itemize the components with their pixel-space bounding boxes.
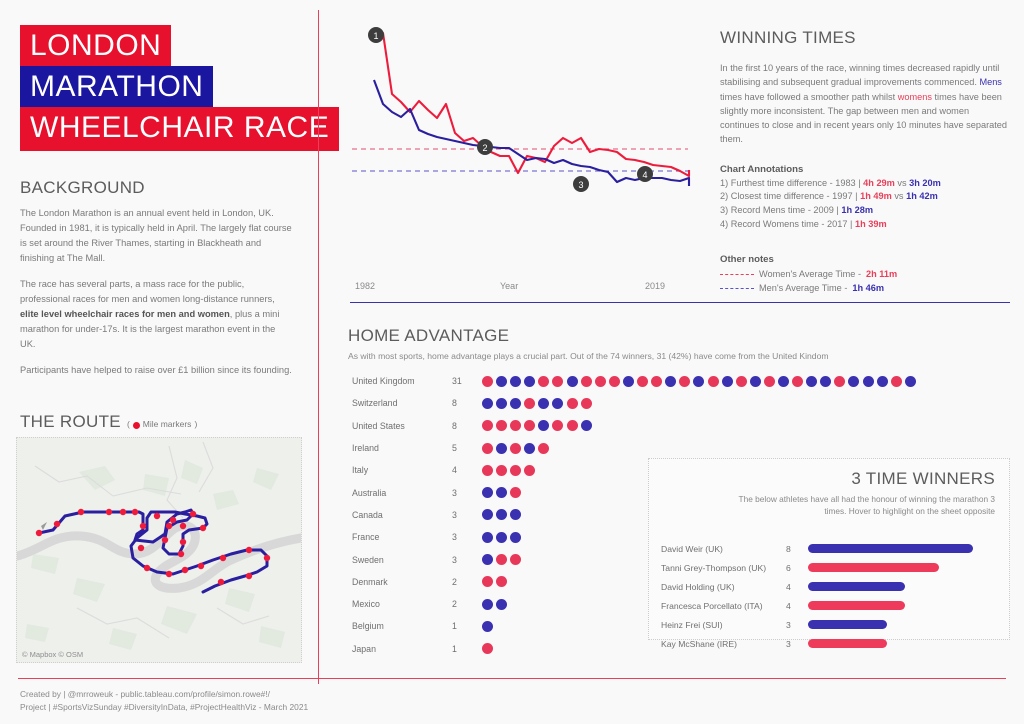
note-womens-average-value: 2h 11m <box>866 267 897 282</box>
country-name: Switzerland <box>352 398 452 408</box>
winning-times-heading: WINNING TIMES <box>720 28 1010 48</box>
country-dot-strip <box>482 465 535 476</box>
winner-dot-blue[interactable] <box>581 420 592 431</box>
country-row[interactable]: United Kingdom31 <box>352 370 952 392</box>
winner-dot-blue[interactable] <box>538 398 549 409</box>
winner-row[interactable]: Heinz Frei (SUI)3 <box>661 615 1001 634</box>
winner-dot-blue[interactable] <box>496 532 507 543</box>
winner-dot-red[interactable] <box>524 465 535 476</box>
country-name: Sweden <box>352 555 452 565</box>
winner-name: David Holding (UK) <box>661 582 786 592</box>
country-dot-strip <box>482 532 521 543</box>
route-map-svg <box>17 438 301 662</box>
winning-body-mens-word: Mens <box>979 77 1001 87</box>
three-time-winners-heading: 3 TIME WINNERS <box>851 469 995 489</box>
winner-dot-red[interactable] <box>552 376 563 387</box>
winner-bar-wrap <box>808 582 983 591</box>
winner-dot-blue[interactable] <box>623 376 634 387</box>
winner-dot-blue[interactable] <box>496 376 507 387</box>
winner-dot-red[interactable] <box>552 420 563 431</box>
winner-count: 3 <box>786 639 808 649</box>
winner-dot-blue[interactable] <box>567 376 578 387</box>
title-line-wheelchair-race: WHEELCHAIR RACE <box>20 107 339 151</box>
country-dot-strip <box>482 398 592 409</box>
winner-dot-blue[interactable] <box>482 487 493 498</box>
winner-dot-blue[interactable] <box>510 509 521 520</box>
home-advantage-panel: HOME ADVANTAGE As with most sports, home… <box>348 326 1010 361</box>
annotation-2-blue-value: 1h 42m <box>906 191 938 201</box>
winner-row[interactable]: David Weir (UK)8 <box>661 539 1001 558</box>
home-advantage-subtitle: As with most sports, home advantage play… <box>348 351 1010 361</box>
x-axis-title: Year <box>500 281 518 291</box>
winner-row[interactable]: David Holding (UK)4 <box>661 577 1001 596</box>
country-win-count: 2 <box>452 599 482 609</box>
country-win-count: 4 <box>452 465 482 475</box>
winner-dot-red[interactable] <box>482 465 493 476</box>
country-name: Mexico <box>352 599 452 609</box>
winner-bar-wrap <box>808 601 983 610</box>
note-womens-average: Women's Average Time - 2h 11m <box>720 267 1010 282</box>
winner-dot-red[interactable] <box>482 443 493 454</box>
country-name: United Kingdom <box>352 376 452 386</box>
route-legend-open-paren: ( <box>127 419 130 429</box>
annotation-2-red-value: 1h 49m <box>860 191 892 201</box>
dashed-line-red-icon <box>720 274 754 275</box>
country-dot-strip <box>482 509 521 520</box>
winner-row[interactable]: Tanni Grey-Thompson (UK)6 <box>661 558 1001 577</box>
background-para2-part1: The race has several parts, a mass race … <box>20 279 275 304</box>
annotation-1-mid: vs <box>895 178 909 188</box>
section-divider <box>350 302 1010 303</box>
chart-annotation-1: 1) Furthest time difference - 1983 | 4h … <box>720 177 1010 191</box>
winner-dot-blue[interactable] <box>510 398 521 409</box>
route-legend-label: Mile markers <box>143 419 192 429</box>
winner-dot-blue[interactable] <box>510 532 521 543</box>
country-win-count: 3 <box>452 510 482 520</box>
country-dot-strip <box>482 621 493 632</box>
winner-dot-blue[interactable] <box>877 376 888 387</box>
country-win-count: 5 <box>452 443 482 453</box>
annotation-1-prefix: 1) Furthest time difference - 1983 | <box>720 178 863 188</box>
country-name: Australia <box>352 488 452 498</box>
winner-dot-blue[interactable] <box>482 398 493 409</box>
chart-annotation-4: 4) Record Womens time - 2017 | 1h 39m <box>720 218 1010 232</box>
country-name: Canada <box>352 510 452 520</box>
winner-bar[interactable] <box>808 639 887 648</box>
chart-annotations-heading: Chart Annotations <box>720 164 1010 175</box>
svg-text:2: 2 <box>482 143 487 153</box>
x-axis-tick-end: 2019 <box>645 281 665 291</box>
dashboard-root: LONDON MARATHON WHEELCHAIR RACE BACKGROU… <box>0 0 1024 724</box>
chart-annotation-2: 2) Closest time difference - 1997 | 1h 4… <box>720 190 1010 204</box>
country-win-count: 3 <box>452 488 482 498</box>
winner-bar[interactable] <box>808 601 905 610</box>
country-win-count: 31 <box>452 376 482 386</box>
winner-dot-blue[interactable] <box>863 376 874 387</box>
annotation-2-mid: vs <box>892 191 906 201</box>
background-paragraph-1: The London Marathon is an annual event h… <box>20 206 292 266</box>
winner-dot-red[interactable] <box>609 376 620 387</box>
winner-dot-red[interactable] <box>891 376 902 387</box>
winner-dot-blue[interactable] <box>905 376 916 387</box>
winner-dot-blue[interactable] <box>693 376 704 387</box>
winner-dot-red[interactable] <box>482 576 493 587</box>
country-row[interactable]: United States8 <box>352 415 952 437</box>
winner-dot-blue[interactable] <box>496 487 507 498</box>
country-dot-strip <box>482 376 916 387</box>
footer-line-1: Created by | @mrroweuk - public.tableau.… <box>20 688 308 701</box>
background-paragraph-2: The race has several parts, a mass race … <box>20 277 292 352</box>
winner-count: 3 <box>786 620 808 630</box>
winner-dot-blue[interactable] <box>496 398 507 409</box>
winner-dot-red[interactable] <box>708 376 719 387</box>
country-name: France <box>352 532 452 542</box>
winner-dot-blue[interactable] <box>482 554 493 565</box>
country-dot-strip <box>482 643 493 654</box>
annotation-4-prefix: 4) Record Womens time - 2017 | <box>720 219 855 229</box>
left-column: LONDON MARATHON WHEELCHAIR RACE BACKGROU… <box>0 0 318 724</box>
winner-bar[interactable] <box>808 563 939 572</box>
country-win-count: 1 <box>452 621 482 631</box>
country-name: Italy <box>352 465 452 475</box>
note-mens-average-value: 1h 46m <box>852 281 884 296</box>
winner-bar-wrap <box>808 639 983 648</box>
title-line-london: LONDON <box>20 25 171 69</box>
winning-times-panel: WINNING TIMES In the first 10 years of t… <box>720 28 1010 296</box>
winner-dot-blue[interactable] <box>750 376 761 387</box>
country-dot-strip <box>482 576 507 587</box>
title-line-marathon: MARATHON <box>20 66 213 110</box>
winner-dot-red[interactable] <box>567 398 578 409</box>
winner-dot-blue[interactable] <box>482 621 493 632</box>
country-dot-strip <box>482 487 521 498</box>
footer-divider <box>18 678 1006 679</box>
svg-text:3: 3 <box>578 180 583 190</box>
chart-annotation-3: 3) Record Mens time - 2009 | 1h 28m <box>720 204 1010 218</box>
route-legend-close-paren: ) <box>194 419 197 429</box>
annotation-4-red-value: 1h 39m <box>855 219 887 229</box>
svg-text:4: 4 <box>642 170 647 180</box>
winner-dot-red[interactable] <box>595 376 606 387</box>
annotation-3-blue-value: 1h 28m <box>841 205 873 215</box>
winner-name: Tanni Grey-Thompson (UK) <box>661 563 786 573</box>
winner-dot-red[interactable] <box>764 376 775 387</box>
country-dot-strip <box>482 554 521 565</box>
winner-dot-blue[interactable] <box>524 443 535 454</box>
winning-times-chart-svg: 1 2 3 4 <box>340 18 700 278</box>
background-heading: BACKGROUND <box>20 178 145 198</box>
route-map[interactable]: © Mapbox © OSM <box>16 437 302 663</box>
winner-bar[interactable] <box>808 620 887 629</box>
winner-dot-red[interactable] <box>482 643 493 654</box>
winner-dot-red[interactable] <box>834 376 845 387</box>
country-name: Ireland <box>352 443 452 453</box>
x-axis-tick-start: 1982 <box>355 281 375 291</box>
country-win-count: 1 <box>452 644 482 654</box>
winner-dot-red[interactable] <box>736 376 747 387</box>
note-womens-average-label: Women's Average Time - <box>759 267 861 282</box>
annotation-3-prefix: 3) Record Mens time - 2009 | <box>720 205 841 215</box>
winning-times-body: In the first 10 years of the race, winni… <box>720 61 1010 147</box>
footer: Created by | @mrroweuk - public.tableau.… <box>20 688 308 715</box>
map-attribution: © Mapbox © OSM <box>22 650 83 659</box>
winner-dot-blue[interactable] <box>806 376 817 387</box>
winner-dot-red[interactable] <box>482 376 493 387</box>
winner-dot-blue[interactable] <box>665 376 676 387</box>
vertical-divider <box>318 10 319 684</box>
winning-body-womens-word: womens <box>898 92 932 102</box>
winner-dot-blue[interactable] <box>552 398 563 409</box>
winner-row[interactable]: Kay McShane (IRE)3 <box>661 634 1001 653</box>
winner-dot-red[interactable] <box>524 398 535 409</box>
winner-dot-blue[interactable] <box>510 376 521 387</box>
background-body: The London Marathon is an annual event h… <box>20 206 292 389</box>
winner-dot-blue[interactable] <box>482 509 493 520</box>
winner-dot-red[interactable] <box>538 376 549 387</box>
winner-dot-red[interactable] <box>496 576 507 587</box>
winner-dot-blue[interactable] <box>820 376 831 387</box>
winner-count: 6 <box>786 563 808 573</box>
country-name: Denmark <box>352 577 452 587</box>
winner-name: David Weir (UK) <box>661 544 786 554</box>
winner-dot-red[interactable] <box>510 443 521 454</box>
country-row[interactable]: Ireland5 <box>352 437 952 459</box>
route-heading-wrap: THE ROUTE ( Mile markers ) <box>20 412 197 432</box>
winner-name: Heinz Frei (SUI) <box>661 620 786 630</box>
route-heading: THE ROUTE <box>20 412 121 432</box>
winner-row[interactable]: Francesca Porcellato (ITA)4 <box>661 596 1001 615</box>
winner-dot-blue[interactable] <box>538 420 549 431</box>
winner-dot-red[interactable] <box>567 420 578 431</box>
note-mens-average: Men's Average Time - 1h 46m <box>720 281 1010 296</box>
country-win-count: 3 <box>452 532 482 542</box>
winner-dot-blue[interactable] <box>722 376 733 387</box>
winner-name: Francesca Porcellato (ITA) <box>661 601 786 611</box>
winner-dot-red[interactable] <box>510 420 521 431</box>
background-paragraph-3: Participants have helped to raise over £… <box>20 363 292 378</box>
background-para2-bold: elite level wheelchair races for men and… <box>20 309 230 319</box>
svg-text:1: 1 <box>373 31 378 41</box>
winner-dot-red[interactable] <box>496 420 507 431</box>
winner-dot-red[interactable] <box>510 465 521 476</box>
annotation-1-blue-value: 3h 20m <box>909 178 941 188</box>
winner-bar-wrap <box>808 563 983 572</box>
country-win-count: 2 <box>452 577 482 587</box>
winner-count: 4 <box>786 582 808 592</box>
winner-dot-blue[interactable] <box>496 443 507 454</box>
winner-dot-red[interactable] <box>496 465 507 476</box>
winner-dot-red[interactable] <box>510 487 521 498</box>
winner-name: Kay McShane (IRE) <box>661 639 786 649</box>
winner-dot-red[interactable] <box>679 376 690 387</box>
winner-dot-blue[interactable] <box>524 376 535 387</box>
country-win-count: 8 <box>452 398 482 408</box>
winner-dot-blue[interactable] <box>482 532 493 543</box>
womens-time-line <box>374 32 689 176</box>
country-dot-strip <box>482 599 507 610</box>
winner-count: 4 <box>786 601 808 611</box>
country-dot-strip <box>482 420 592 431</box>
winner-dot-blue[interactable] <box>496 599 507 610</box>
winner-dot-red[interactable] <box>581 398 592 409</box>
route-legend: ( Mile markers ) <box>127 419 197 429</box>
three-time-winners-list: David Weir (UK)8Tanni Grey-Thompson (UK)… <box>661 539 1001 653</box>
country-name: United States <box>352 421 452 431</box>
mile-marker-dot-icon <box>133 422 140 429</box>
country-name: Japan <box>352 644 452 654</box>
winner-dot-red[interactable] <box>538 443 549 454</box>
other-notes-heading: Other notes <box>720 254 1010 265</box>
country-dot-strip <box>482 443 549 454</box>
annotation-1-red-value: 4h 29m <box>863 178 895 188</box>
winning-body-part1: In the first 10 years of the race, winni… <box>720 63 999 87</box>
winning-times-chart[interactable]: 1 2 3 4 1982 Year 2019 <box>340 18 700 283</box>
winner-dot-red[interactable] <box>792 376 803 387</box>
country-name: Belgium <box>352 621 452 631</box>
country-row[interactable]: Switzerland8 <box>352 392 952 414</box>
footer-line-2: Project | #SportsVizSunday #DiversityInD… <box>20 701 308 714</box>
winner-dot-red[interactable] <box>524 420 535 431</box>
three-time-winners-panel[interactable]: 3 TIME WINNERS The below athletes have a… <box>648 458 1010 640</box>
country-win-count: 8 <box>452 421 482 431</box>
annotation-2-prefix: 2) Closest time difference - 1997 | <box>720 191 860 201</box>
note-mens-average-label: Men's Average Time - <box>759 281 847 296</box>
winning-body-part2: times have followed a smoother path whil… <box>720 92 898 102</box>
winner-bar-wrap <box>808 620 983 629</box>
winner-count: 8 <box>786 544 808 554</box>
other-notes-block: Other notes Women's Average Time - 2h 11… <box>720 254 1010 296</box>
winner-dot-blue[interactable] <box>848 376 859 387</box>
winner-bar[interactable] <box>808 582 905 591</box>
winner-dot-red[interactable] <box>637 376 648 387</box>
winner-dot-blue[interactable] <box>482 599 493 610</box>
winner-dot-red[interactable] <box>482 420 493 431</box>
dashed-line-blue-icon <box>720 288 754 289</box>
winner-dot-blue[interactable] <box>496 509 507 520</box>
winner-dot-red[interactable] <box>581 376 592 387</box>
winner-dot-red[interactable] <box>510 554 521 565</box>
winner-bar-wrap <box>808 544 983 553</box>
three-time-winners-subtitle: The below athletes have all had the hono… <box>735 493 995 517</box>
home-advantage-heading: HOME ADVANTAGE <box>348 326 1010 346</box>
winner-bar[interactable] <box>808 544 973 553</box>
country-win-count: 3 <box>452 555 482 565</box>
winner-dot-red[interactable] <box>651 376 662 387</box>
winner-dot-red[interactable] <box>496 554 507 565</box>
winner-dot-blue[interactable] <box>778 376 789 387</box>
